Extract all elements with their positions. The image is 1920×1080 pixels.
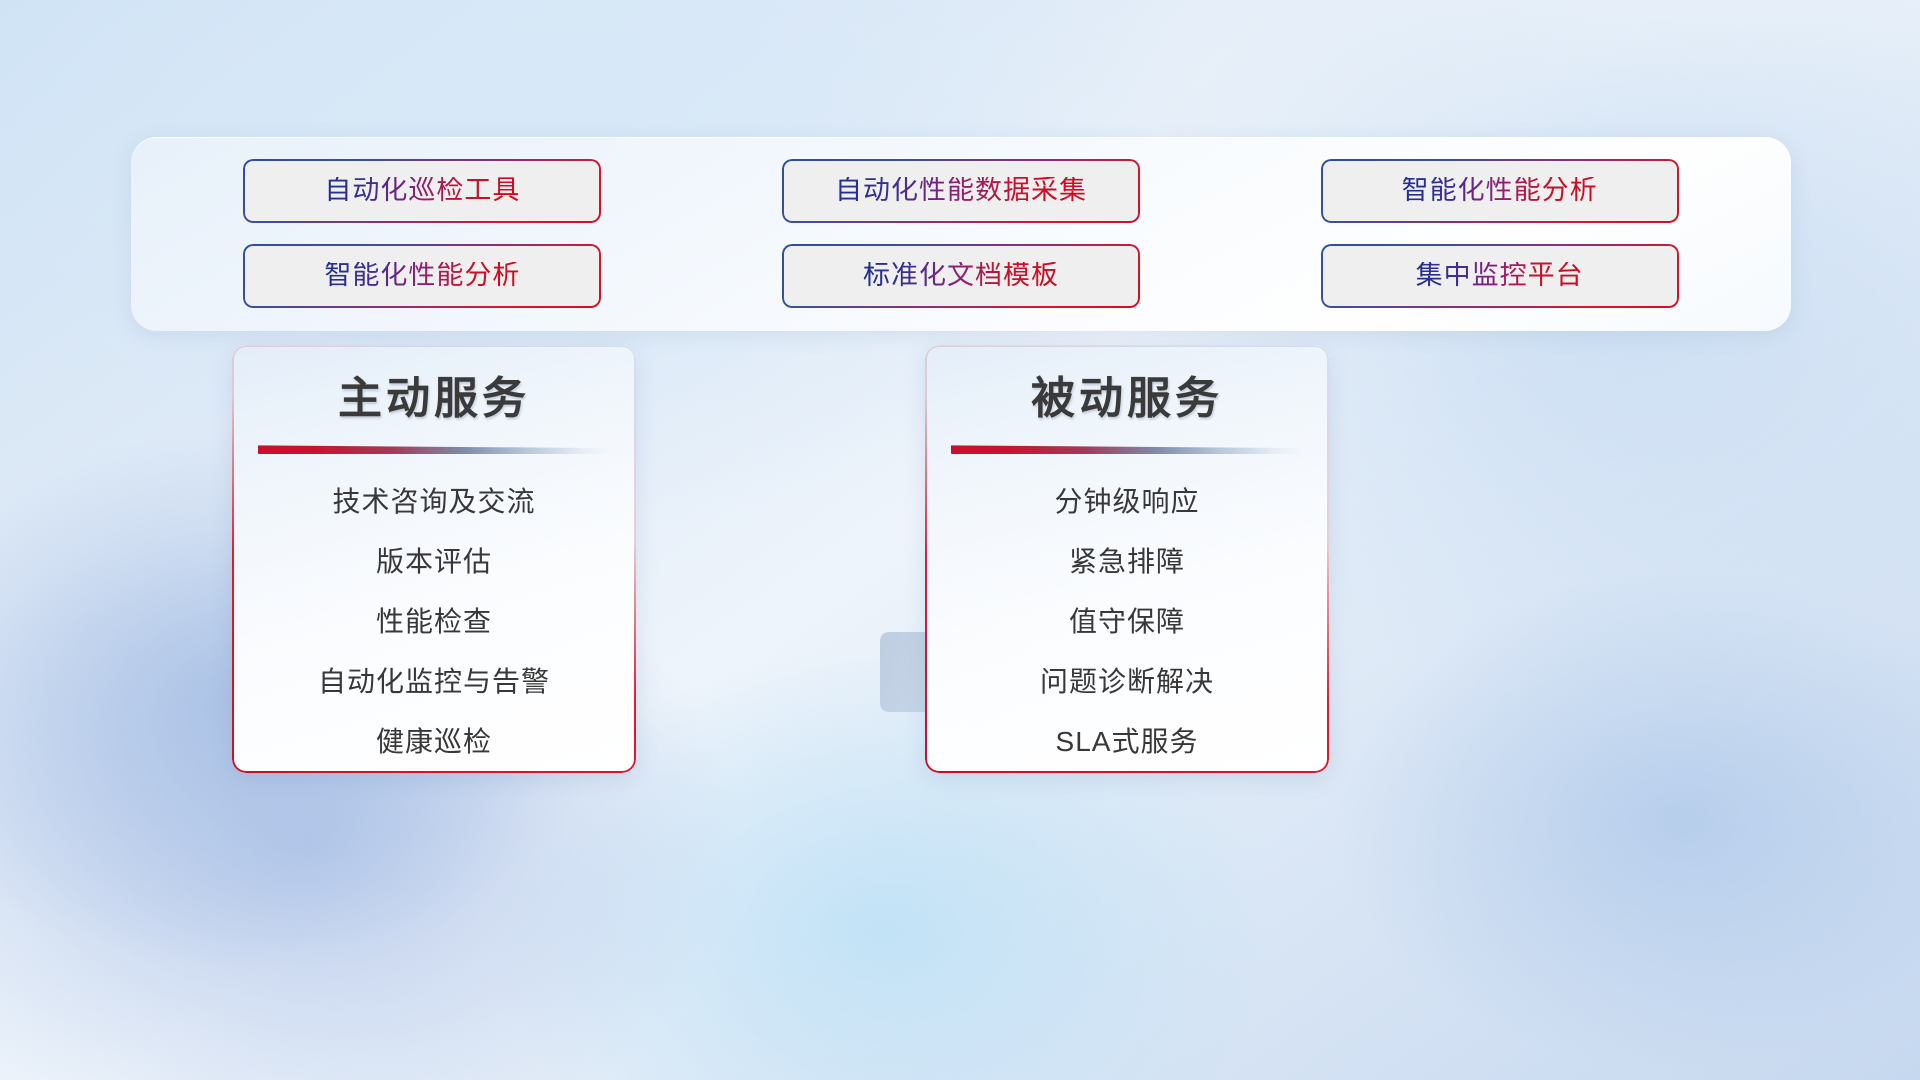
capability-pill-5[interactable]: 标准化文档模板 xyxy=(782,244,1140,308)
list-item: 版本评估 xyxy=(232,548,636,576)
list-item: 性能检查 xyxy=(232,608,636,636)
service-card-reactive: 被动服务 分钟级响应 紧急排障 值守保障 问题诊断解决 SLA式服务 xyxy=(925,345,1329,773)
card-divider xyxy=(258,445,610,454)
list-item: 紧急排障 xyxy=(925,548,1329,576)
capability-pill-label: 智能化性能分析 xyxy=(1402,177,1598,204)
card-title: 被动服务 xyxy=(925,375,1329,423)
capability-pill-4[interactable]: 智能化性能分析 xyxy=(243,244,601,308)
capability-pill-3[interactable]: 智能化性能分析 xyxy=(1321,159,1679,223)
slide-canvas: 自动化巡检工具 自动化性能数据采集 智能化性能分析 智能化性能分析 标准化文档模… xyxy=(0,0,1920,1080)
card-divider xyxy=(951,445,1303,454)
list-item: 分钟级响应 xyxy=(925,488,1329,516)
list-item: 自动化监控与告警 xyxy=(232,668,636,696)
capabilities-panel: 自动化巡检工具 自动化性能数据采集 智能化性能分析 智能化性能分析 标准化文档模… xyxy=(131,137,1791,331)
capability-pill-label: 自动化巡检工具 xyxy=(324,177,520,204)
capability-pill-label: 集中监控平台 xyxy=(1416,262,1584,289)
capability-pill-label: 智能化性能分析 xyxy=(324,262,520,289)
capability-pill-2[interactable]: 自动化性能数据采集 xyxy=(782,159,1140,223)
capability-pill-label: 标准化文档模板 xyxy=(863,262,1059,289)
list-item: SLA式服务 xyxy=(925,728,1329,756)
card-title: 主动服务 xyxy=(232,375,636,423)
list-item: 技术咨询及交流 xyxy=(232,488,636,516)
list-item: 问题诊断解决 xyxy=(925,668,1329,696)
service-item-list: 分钟级响应 紧急排障 值守保障 问题诊断解决 SLA式服务 xyxy=(925,488,1329,756)
service-item-list: 技术咨询及交流 版本评估 性能检查 自动化监控与告警 健康巡检 xyxy=(232,488,636,756)
list-item: 健康巡检 xyxy=(232,728,636,756)
capability-pill-1[interactable]: 自动化巡检工具 xyxy=(243,159,601,223)
capability-pill-6[interactable]: 集中监控平台 xyxy=(1321,244,1679,308)
capability-pill-label: 自动化性能数据采集 xyxy=(835,177,1087,204)
list-item: 值守保障 xyxy=(925,608,1329,636)
service-card-proactive: 主动服务 技术咨询及交流 版本评估 性能检查 自动化监控与告警 健康巡检 xyxy=(232,345,636,773)
